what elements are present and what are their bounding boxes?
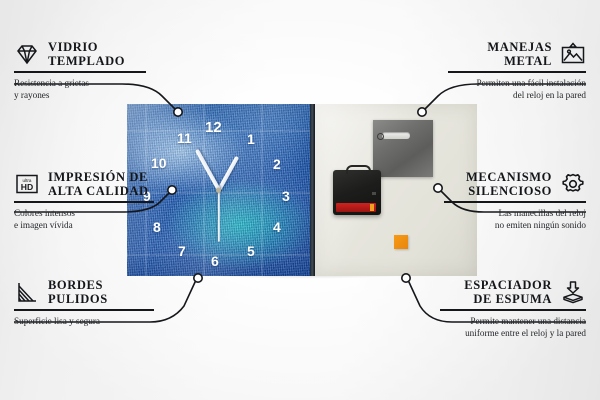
polished-edge-icon xyxy=(14,280,40,304)
clock-second-hand xyxy=(218,190,220,242)
callout-rule xyxy=(444,201,586,203)
callout-title: BORDES PULIDOS xyxy=(48,278,108,306)
gear-icon xyxy=(560,172,586,196)
callout-header: MECANISMO SILENCIOSO xyxy=(444,170,586,198)
callout-rule xyxy=(14,309,154,311)
picture-frame-icon xyxy=(560,42,586,66)
callout-header: VIDRIO TEMPLADO xyxy=(14,40,146,68)
clock-numeral-12: 12 xyxy=(205,120,222,135)
callout-description: Permiten una fácil instalación del reloj… xyxy=(448,77,586,102)
clock-numeral-1: 1 xyxy=(247,132,255,146)
callout-rule xyxy=(448,71,586,73)
callout-rule xyxy=(14,71,146,73)
callout-espaciador-espuma: ESPACIADOR DE ESPUMA Permite mantener un… xyxy=(440,278,586,339)
clock-numeral-10: 10 xyxy=(151,156,167,170)
hanger-keyhole-slot xyxy=(382,132,410,139)
clock-numeral-6: 6 xyxy=(211,254,219,268)
mechanism-label xyxy=(372,192,376,195)
callout-header: MANEJAS METAL xyxy=(448,40,586,68)
callout-description: Resistencia a grietas y rayones xyxy=(14,77,146,102)
callout-header: BORDES PULIDOS xyxy=(14,278,154,306)
callout-vidrio-templado: VIDRIO TEMPLADO Resistencia a grietas y … xyxy=(14,40,146,101)
clock-numeral-11: 11 xyxy=(177,131,192,145)
callout-title: ESPACIADOR DE ESPUMA xyxy=(464,278,552,306)
clock-numeral-4: 4 xyxy=(273,220,281,234)
callout-manejas-metal: MANEJAS METAL Permiten una fácil instala… xyxy=(448,40,586,101)
callout-title: MANEJAS METAL xyxy=(487,40,552,68)
callout-description: Superficie lisa y segura xyxy=(14,315,154,327)
battery xyxy=(336,203,376,212)
callout-description: Las manecillas del reloj no emiten ningú… xyxy=(444,207,586,232)
diamond-icon xyxy=(14,42,40,66)
svg-text:HD: HD xyxy=(21,182,33,192)
callout-title: IMPRESIÓN DE ALTA CALIDAD xyxy=(48,170,149,198)
callout-mecanismo-silencioso: MECANISMO SILENCIOSO Las manecillas del … xyxy=(444,170,586,231)
clock-face-panel: 12 1 2 3 4 5 6 7 8 9 10 11 xyxy=(127,104,310,276)
callout-rule xyxy=(440,309,586,311)
callout-bordes-pulidos: BORDES PULIDOS Superficie lisa y segura xyxy=(14,278,154,327)
callout-description: Colores intensos e imagen vívida xyxy=(14,207,154,232)
callout-impresion-alta-calidad: ultra HD IMPRESIÓN DE ALTA CALIDAD Color… xyxy=(14,170,154,231)
foam-spacer-icon xyxy=(560,280,586,304)
infographic-canvas: 12 1 2 3 4 5 6 7 8 9 10 11 xyxy=(0,0,600,400)
callout-title: MECANISMO SILENCIOSO xyxy=(466,170,552,198)
callout-description: Permite mantener una distancia uniforme … xyxy=(440,315,586,340)
clock-numeral-7: 7 xyxy=(178,244,186,258)
clock-numeral-2: 2 xyxy=(273,157,281,171)
callout-header: ultra HD IMPRESIÓN DE ALTA CALIDAD xyxy=(14,170,154,198)
clock-numeral-3: 3 xyxy=(282,189,290,203)
mechanism-hang-loop xyxy=(346,165,371,174)
callout-title: VIDRIO TEMPLADO xyxy=(48,40,125,68)
clock-numeral-8: 8 xyxy=(153,220,161,234)
clock-mechanism-box xyxy=(333,170,381,215)
clock-center-cap xyxy=(216,188,221,193)
ultra-hd-icon: ultra HD xyxy=(14,172,40,196)
callout-header: ESPACIADOR DE ESPUMA xyxy=(440,278,586,306)
callout-rule xyxy=(14,201,154,203)
product-photo: 12 1 2 3 4 5 6 7 8 9 10 11 xyxy=(127,104,477,276)
clock-numeral-5: 5 xyxy=(247,244,255,258)
foam-spacer xyxy=(394,235,408,249)
metal-hanger-plate xyxy=(373,120,433,177)
